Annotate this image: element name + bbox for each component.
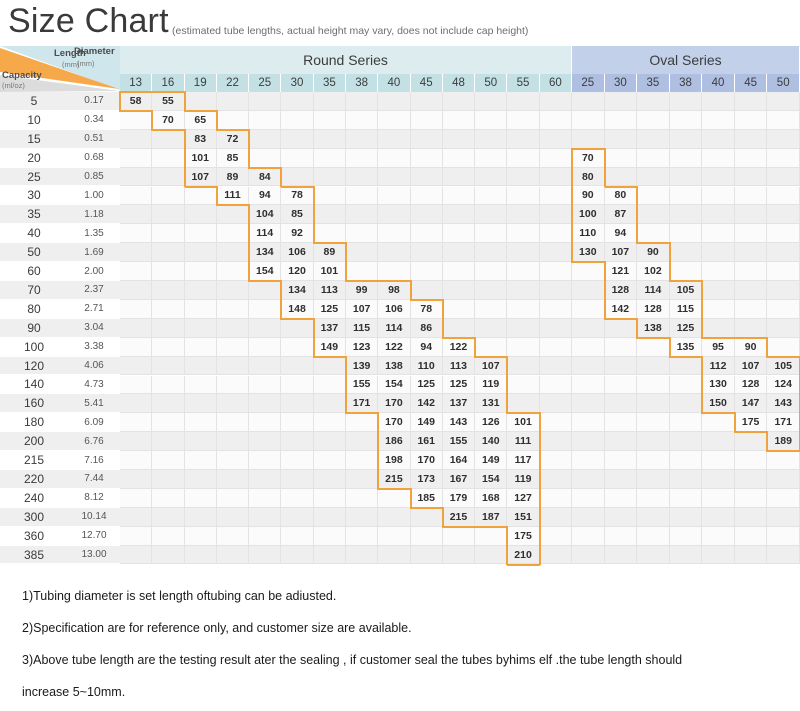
data-cell-empty	[217, 281, 249, 300]
data-cell-empty	[346, 546, 378, 565]
data-cell-empty	[314, 111, 346, 130]
data-cell-value: 149	[314, 338, 346, 357]
data-cell-value: 113	[443, 357, 475, 376]
highlight-outline-segment	[604, 148, 606, 169]
data-cell-empty	[540, 432, 572, 451]
highlight-outline-segment	[767, 356, 800, 358]
data-cell-value: 84	[249, 168, 281, 187]
highlight-outline-segment	[217, 204, 249, 206]
data-cell-empty	[702, 489, 735, 508]
data-cell-value: 148	[281, 300, 313, 319]
note-line-4: increase 5~10mm.	[22, 684, 125, 700]
data-cell-empty	[217, 92, 249, 111]
row-diameter-20: 0.68	[68, 149, 120, 168]
highlight-outline-segment	[571, 186, 573, 207]
highlight-outline-segment	[345, 393, 347, 414]
data-cell-value: 127	[507, 489, 539, 508]
data-cell-empty	[411, 508, 443, 527]
data-cell-empty	[120, 546, 152, 565]
data-cell-empty	[314, 168, 346, 187]
data-cell-empty	[702, 451, 735, 470]
data-cell-empty	[572, 376, 605, 395]
highlight-outline-segment	[248, 129, 250, 150]
data-cell-value: 65	[185, 111, 217, 130]
data-cell-empty	[735, 508, 768, 527]
data-cell-empty	[670, 92, 703, 111]
highlight-outline-segment	[702, 412, 735, 414]
data-cell-empty	[605, 432, 638, 451]
data-cell-empty	[605, 168, 638, 187]
data-cell-empty	[346, 111, 378, 130]
row-diameter-60: 2.00	[68, 262, 120, 281]
page-subtitle: (estimated tube lengths, actual height m…	[172, 24, 528, 38]
data-cell-empty	[281, 338, 313, 357]
data-cell-empty	[185, 224, 217, 243]
highlight-outline-segment	[735, 337, 768, 339]
data-cell-value: 125	[670, 319, 703, 338]
data-cell-empty	[411, 546, 443, 565]
row-capacity-100: 100	[0, 338, 68, 357]
data-cell-empty	[572, 357, 605, 376]
data-cell-empty	[443, 92, 475, 111]
highlight-outline-segment	[280, 167, 282, 188]
data-cell-empty	[670, 470, 703, 489]
data-cell-empty	[637, 413, 670, 432]
highlight-outline-segment	[151, 110, 153, 131]
data-cell-value: 115	[346, 319, 378, 338]
data-cell-value: 210	[507, 546, 539, 565]
highlight-outline-segment	[637, 242, 670, 244]
row-capacity-80: 80	[0, 300, 68, 319]
data-cell-empty	[346, 205, 378, 224]
data-cell-value: 198	[378, 451, 410, 470]
data-cell-empty	[120, 205, 152, 224]
data-cell-empty	[572, 300, 605, 319]
highlight-outline-segment	[411, 299, 443, 301]
data-cell-empty	[507, 92, 539, 111]
data-cell-empty	[120, 319, 152, 338]
data-cell-empty	[443, 205, 475, 224]
data-cell-empty	[411, 243, 443, 262]
data-cell-value: 126	[475, 413, 507, 432]
data-cell-empty	[670, 376, 703, 395]
data-cell-empty	[507, 168, 539, 187]
highlight-outline-segment	[669, 337, 671, 358]
data-cell-value: 105	[670, 281, 703, 300]
data-cell-empty	[735, 205, 768, 224]
data-cell-value: 101	[314, 262, 346, 281]
highlight-outline-segment	[248, 223, 250, 244]
data-cell-empty	[411, 205, 443, 224]
data-cell-value: 106	[281, 243, 313, 262]
data-cell-empty	[767, 470, 800, 489]
data-cell-empty	[120, 376, 152, 395]
column-header-round-35: 35	[314, 74, 346, 92]
column-header-round-19: 19	[185, 74, 217, 92]
data-cell-empty	[540, 281, 572, 300]
data-cell-value: 149	[411, 413, 443, 432]
data-cell-empty	[120, 111, 152, 130]
data-cell-empty	[152, 281, 184, 300]
data-cell-value: 154	[475, 470, 507, 489]
highlight-outline-segment	[506, 375, 508, 396]
data-cell-empty	[735, 262, 768, 281]
data-cell-empty	[735, 432, 768, 451]
data-cell-empty	[540, 187, 572, 206]
highlight-outline-segment	[410, 488, 412, 509]
data-cell-value: 95	[702, 338, 735, 357]
data-cell-empty	[767, 489, 800, 508]
data-cell-empty	[185, 527, 217, 546]
data-cell-empty	[443, 130, 475, 149]
data-cell-empty	[767, 149, 800, 168]
column-header-round-38: 38	[346, 74, 378, 92]
row-capacity-25: 25	[0, 168, 68, 187]
data-cell-value: 78	[281, 187, 313, 206]
data-cell-value: 151	[507, 508, 539, 527]
highlight-outline-segment	[378, 280, 410, 282]
column-header-oval-45: 45	[735, 74, 768, 92]
data-cell-empty	[249, 527, 281, 546]
data-cell-value: 92	[281, 224, 313, 243]
data-cell-empty	[735, 111, 768, 130]
data-cell-empty	[475, 281, 507, 300]
data-cell-empty	[540, 527, 572, 546]
data-cell-empty	[475, 546, 507, 565]
data-cell-empty	[217, 300, 249, 319]
data-cell-empty	[637, 489, 670, 508]
data-cell-value: 115	[670, 300, 703, 319]
highlight-outline-segment	[702, 337, 735, 339]
data-cell-value: 119	[475, 376, 507, 395]
data-cell-empty	[637, 92, 670, 111]
data-cell-empty	[378, 489, 410, 508]
data-cell-empty	[540, 394, 572, 413]
data-cell-empty	[120, 508, 152, 527]
data-cell-empty	[637, 205, 670, 224]
data-cell-empty	[249, 319, 281, 338]
data-cell-empty	[670, 357, 703, 376]
highlight-outline-segment	[185, 110, 217, 112]
row-capacity-60: 60	[0, 262, 68, 281]
data-cell-empty	[670, 527, 703, 546]
data-cell-empty	[152, 300, 184, 319]
data-cell-empty	[185, 546, 217, 565]
column-header-oval-40: 40	[702, 74, 735, 92]
data-cell-empty	[185, 205, 217, 224]
highlight-outline-segment	[734, 412, 736, 433]
data-cell-value: 90	[637, 243, 670, 262]
data-cell-empty	[120, 527, 152, 546]
row-diameter-360: 12.70	[68, 527, 120, 546]
data-cell-empty	[443, 262, 475, 281]
data-cell-empty	[702, 300, 735, 319]
data-cell-empty	[702, 130, 735, 149]
highlight-outline-segment	[313, 186, 315, 207]
data-cell-empty	[605, 527, 638, 546]
data-cell-empty	[346, 262, 378, 281]
data-cell-empty	[443, 546, 475, 565]
data-cell-empty	[767, 508, 800, 527]
data-cell-empty	[637, 357, 670, 376]
data-cell-value: 83	[185, 130, 217, 149]
data-cell-empty	[152, 413, 184, 432]
highlight-outline-segment	[442, 318, 444, 339]
data-cell-empty	[152, 376, 184, 395]
highlight-outline-segment	[248, 148, 250, 169]
data-cell-empty	[572, 394, 605, 413]
row-diameter-35: 1.18	[68, 205, 120, 224]
data-cell-value: 94	[411, 338, 443, 357]
data-cell-empty	[185, 281, 217, 300]
highlight-outline-segment	[280, 299, 282, 320]
column-header-round-22: 22	[217, 74, 249, 92]
data-cell-empty	[314, 470, 346, 489]
data-cell-empty	[185, 394, 217, 413]
column-header-round-30: 30	[281, 74, 313, 92]
data-cell-empty	[507, 243, 539, 262]
data-cell-empty	[120, 262, 152, 281]
data-cell-empty	[346, 489, 378, 508]
data-cell-empty	[670, 224, 703, 243]
highlight-outline-segment	[249, 167, 281, 169]
data-cell-value: 138	[637, 319, 670, 338]
highlight-outline-segment	[442, 299, 444, 320]
data-cell-empty	[185, 262, 217, 281]
highlight-outline-segment	[313, 337, 315, 358]
data-cell-empty	[637, 527, 670, 546]
corner-header-cell: Length (mm) Diameter (mm) Capacity (ml/o…	[0, 46, 120, 92]
data-cell-empty	[314, 149, 346, 168]
column-header-round-48: 48	[443, 74, 475, 92]
data-cell-empty	[702, 149, 735, 168]
data-cell-empty	[120, 224, 152, 243]
highlight-outline-segment	[216, 110, 218, 131]
data-cell-value: 137	[443, 394, 475, 413]
column-header-oval-30: 30	[605, 74, 638, 92]
data-cell-empty	[185, 357, 217, 376]
data-cell-empty	[637, 546, 670, 565]
data-cell-empty	[605, 319, 638, 338]
data-cell-empty	[735, 527, 768, 546]
data-cell-value: 137	[314, 319, 346, 338]
data-cell-value: 155	[346, 376, 378, 395]
data-cell-empty	[767, 300, 800, 319]
size-chart-table: Length (mm) Diameter (mm) Capacity (ml/o…	[0, 46, 800, 584]
data-cell-empty	[767, 205, 800, 224]
data-cell-empty	[605, 130, 638, 149]
data-cell-empty	[475, 527, 507, 546]
data-cell-empty	[507, 262, 539, 281]
data-cell-empty	[767, 281, 800, 300]
data-cell-value: 187	[475, 508, 507, 527]
data-cell-empty	[120, 281, 152, 300]
data-cell-empty	[314, 394, 346, 413]
data-cell-empty	[378, 168, 410, 187]
data-cell-value: 135	[670, 338, 703, 357]
data-cell-value: 111	[217, 187, 249, 206]
data-cell-value: 90	[735, 338, 768, 357]
data-cell-empty	[120, 489, 152, 508]
data-cell-empty	[217, 243, 249, 262]
data-cell-empty	[572, 338, 605, 357]
data-cell-empty	[540, 243, 572, 262]
data-cell-empty	[314, 527, 346, 546]
data-cell-empty	[185, 243, 217, 262]
data-cell-empty	[152, 432, 184, 451]
data-cell-value: 80	[605, 187, 638, 206]
data-cell-empty	[670, 546, 703, 565]
data-cell-value: 121	[605, 262, 638, 281]
row-capacity-10: 10	[0, 111, 68, 130]
data-cell-empty	[346, 243, 378, 262]
data-cell-empty	[702, 168, 735, 187]
highlight-outline-segment	[442, 507, 444, 528]
highlight-outline-segment	[184, 91, 186, 112]
data-cell-value: 119	[507, 470, 539, 489]
data-cell-empty	[735, 470, 768, 489]
highlight-outline-segment	[572, 261, 605, 263]
column-header-round-45: 45	[411, 74, 443, 92]
data-cell-empty	[217, 205, 249, 224]
column-header-oval-35: 35	[637, 74, 670, 92]
data-cell-empty	[185, 338, 217, 357]
data-cell-empty	[249, 357, 281, 376]
data-cell-value: 215	[443, 508, 475, 527]
data-cell-empty	[507, 224, 539, 243]
data-cell-empty	[637, 168, 670, 187]
data-cell-value: 112	[702, 357, 735, 376]
note-line-2: 2)Specification are for reference only, …	[22, 620, 412, 636]
data-cell-value: 154	[249, 262, 281, 281]
data-cell-empty	[346, 527, 378, 546]
data-cell-empty	[572, 470, 605, 489]
data-cell-empty	[572, 546, 605, 565]
data-cell-empty	[217, 376, 249, 395]
data-cell-empty	[281, 394, 313, 413]
data-cell-empty	[507, 376, 539, 395]
data-cell-value: 114	[637, 281, 670, 300]
highlight-outline-segment	[345, 356, 347, 377]
row-capacity-200: 200	[0, 432, 68, 451]
data-cell-empty	[443, 111, 475, 130]
data-cell-value: 138	[378, 357, 410, 376]
data-cell-empty	[735, 130, 768, 149]
data-cell-value: 143	[767, 394, 800, 413]
data-cell-value: 85	[281, 205, 313, 224]
data-cell-empty	[507, 394, 539, 413]
highlight-outline-segment	[314, 242, 346, 244]
data-cell-empty	[670, 262, 703, 281]
group-header-oval-series: Oval Series	[572, 46, 800, 74]
data-cell-empty	[217, 546, 249, 565]
data-cell-empty	[767, 262, 800, 281]
data-cell-value: 150	[702, 394, 735, 413]
data-cell-value: 104	[249, 205, 281, 224]
data-cell-empty	[637, 394, 670, 413]
data-cell-empty	[281, 111, 313, 130]
column-header-oval-50: 50	[767, 74, 800, 92]
data-cell-empty	[767, 451, 800, 470]
data-cell-empty	[670, 432, 703, 451]
highlight-outline-segment	[346, 280, 378, 282]
data-cell-empty	[281, 92, 313, 111]
data-cell-empty	[185, 413, 217, 432]
data-cell-empty	[314, 357, 346, 376]
data-cell-empty	[249, 300, 281, 319]
data-cell-empty	[670, 111, 703, 130]
data-cell-empty	[152, 508, 184, 527]
row-capacity-220: 220	[0, 470, 68, 489]
row-diameter-140: 4.73	[68, 376, 120, 395]
data-cell-empty	[281, 376, 313, 395]
data-cell-value: 87	[605, 205, 638, 224]
data-cell-empty	[217, 357, 249, 376]
data-cell-value: 100	[572, 205, 605, 224]
data-cell-empty	[152, 243, 184, 262]
highlight-outline-segment	[604, 167, 606, 188]
data-cell-empty	[346, 470, 378, 489]
data-cell-empty	[605, 338, 638, 357]
data-cell-value: 122	[443, 338, 475, 357]
data-cell-empty	[475, 262, 507, 281]
highlight-outline-segment	[701, 393, 703, 414]
data-cell-value: 128	[637, 300, 670, 319]
page-title: Size Chart	[8, 0, 169, 44]
data-cell-value: 168	[475, 489, 507, 508]
data-cell-empty	[670, 130, 703, 149]
data-cell-empty	[314, 508, 346, 527]
data-cell-empty	[572, 489, 605, 508]
data-cell-empty	[735, 224, 768, 243]
data-cell-empty	[540, 262, 572, 281]
data-cell-empty	[281, 357, 313, 376]
data-cell-value: 124	[767, 376, 800, 395]
data-cell-empty	[572, 432, 605, 451]
row-diameter-30: 1.00	[68, 187, 120, 206]
highlight-outline-segment	[701, 280, 703, 301]
data-cell-value: 101	[507, 413, 539, 432]
highlight-outline-segment	[152, 91, 184, 93]
data-cell-empty	[767, 546, 800, 565]
data-cell-empty	[443, 149, 475, 168]
highlight-outline-segment	[539, 469, 541, 490]
data-cell-empty	[185, 187, 217, 206]
data-cell-empty	[411, 281, 443, 300]
data-cell-value: 107	[605, 243, 638, 262]
data-cell-empty	[443, 319, 475, 338]
row-diameter-240: 8.12	[68, 489, 120, 508]
row-capacity-15: 15	[0, 130, 68, 149]
data-cell-value: 117	[507, 451, 539, 470]
data-cell-empty	[572, 451, 605, 470]
data-cell-value: 130	[572, 243, 605, 262]
data-cell-value: 128	[735, 376, 768, 395]
highlight-outline-segment	[701, 299, 703, 320]
data-cell-empty	[702, 262, 735, 281]
data-cell-empty	[735, 546, 768, 565]
data-cell-value: 85	[217, 149, 249, 168]
row-capacity-35: 35	[0, 205, 68, 224]
data-cell-empty	[185, 508, 217, 527]
data-cell-empty	[120, 451, 152, 470]
data-cell-empty	[152, 149, 184, 168]
data-cell-empty	[572, 319, 605, 338]
highlight-outline-segment	[572, 148, 605, 150]
data-cell-empty	[185, 432, 217, 451]
data-cell-empty	[314, 451, 346, 470]
data-cell-empty	[120, 394, 152, 413]
